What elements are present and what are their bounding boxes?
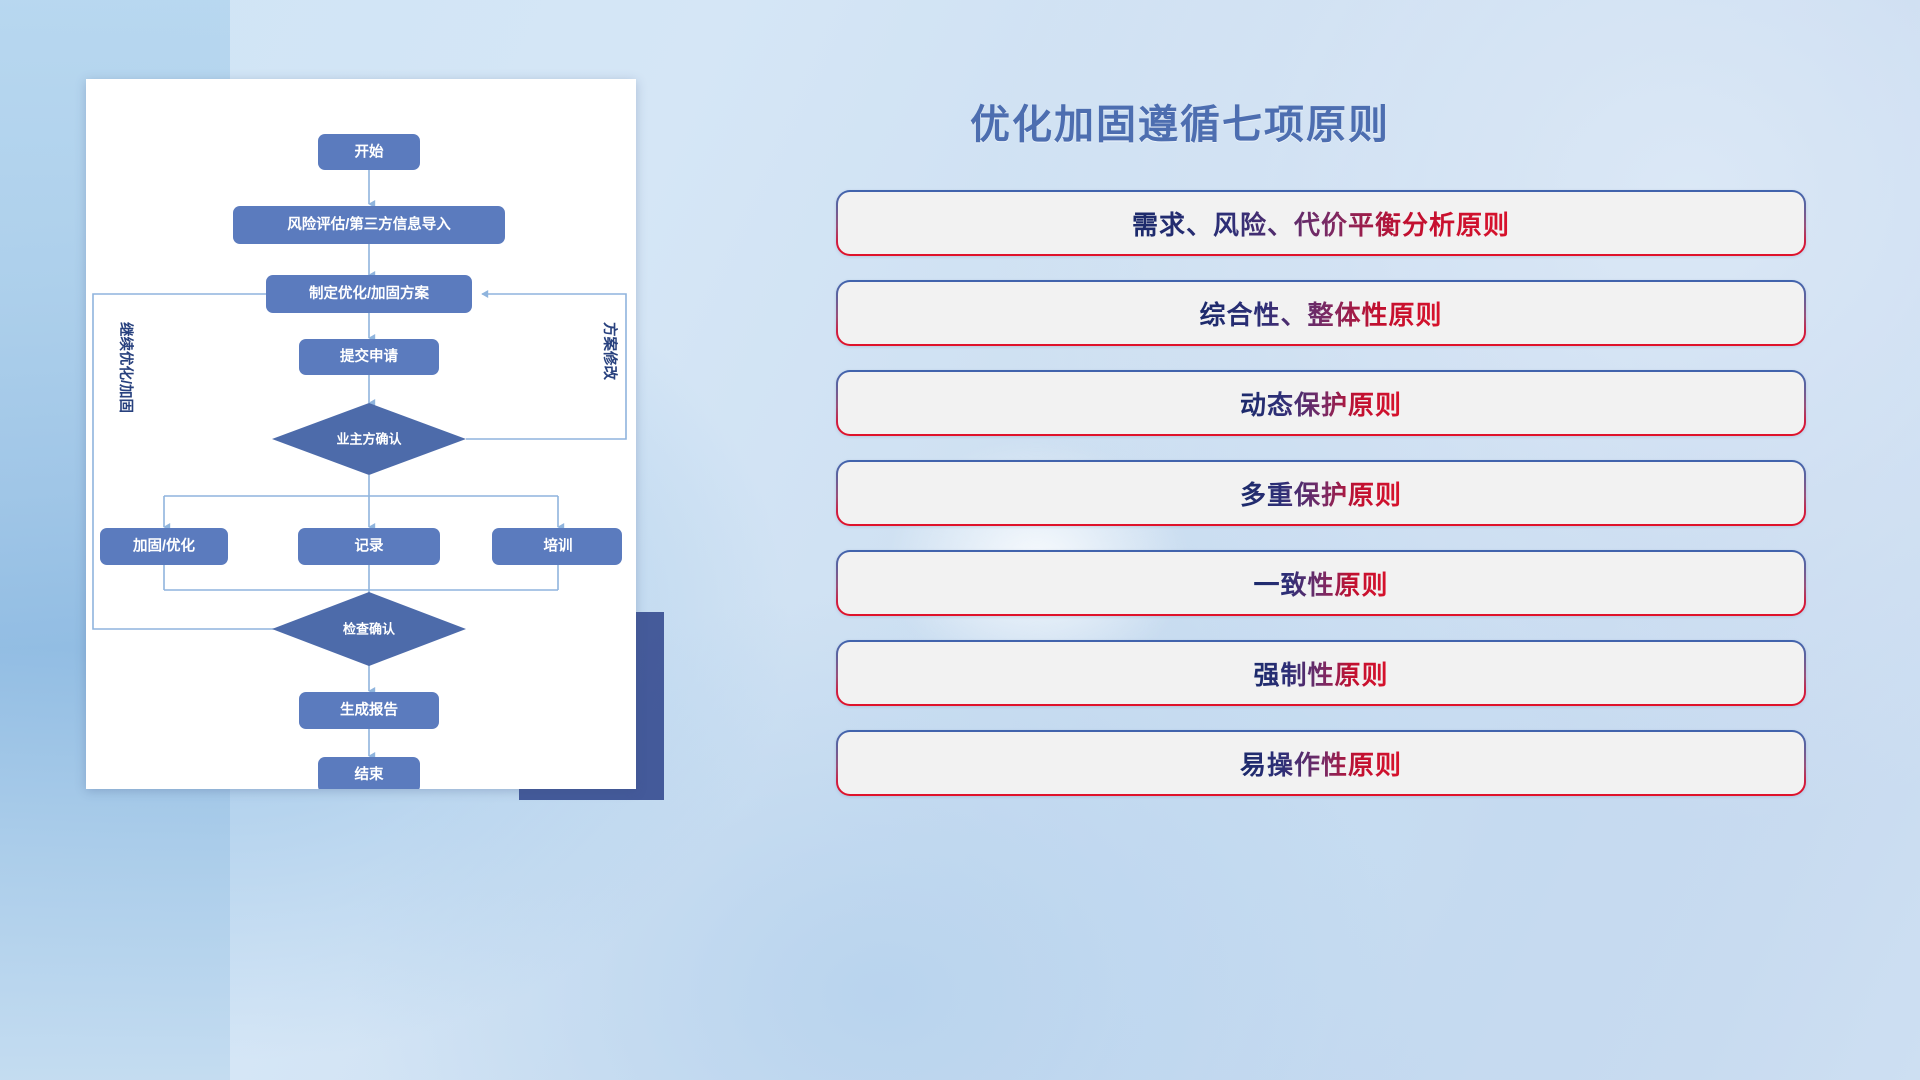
principle-label-6: 强制性原则 <box>1253 655 1388 692</box>
node-start[interactable]: 开始 <box>318 134 420 170</box>
node-reinforce-optimize[interactable]: 加固/优化 <box>100 528 228 565</box>
node-training[interactable]: 培训 <box>492 528 622 565</box>
principle-card-2[interactable]: 综合性、整体性原则 <box>836 280 1806 346</box>
principle-card-6[interactable]: 强制性原则 <box>836 640 1806 706</box>
principle-label-2: 综合性、整体性原则 <box>1199 295 1442 332</box>
principle-card-list: 需求、风险、代价平衡分析原则 综合性、整体性原则 动态保护原则 多重保护原则 一… <box>836 190 1806 820</box>
node-report-label: 生成报告 <box>340 701 398 719</box>
node-end[interactable]: 结束 <box>318 757 420 789</box>
node-risk-label: 风险评估/第三方信息导入 <box>287 215 451 233</box>
node-generate-report[interactable]: 生成报告 <box>299 692 439 729</box>
edge-label-continue-optimize: 继续优化/加固 <box>117 322 135 413</box>
node-training-label: 培训 <box>544 537 573 555</box>
principle-label-1: 需求、风险、代价平衡分析原则 <box>1132 205 1510 242</box>
principle-card-3[interactable]: 动态保护原则 <box>836 370 1806 436</box>
node-end-label: 结束 <box>355 765 384 783</box>
principle-label-5: 一致性原则 <box>1253 565 1388 602</box>
principle-card-7[interactable]: 易操作性原则 <box>836 730 1806 796</box>
node-submit-label: 提交申请 <box>340 347 398 365</box>
flowchart-nodes: 开始 风险评估/第三方信息导入 制定优化/加固方案 提交申请 业主方确认 加固/ <box>100 134 622 789</box>
node-owner-confirm[interactable]: 业主方确认 <box>272 403 466 475</box>
principle-card-1[interactable]: 需求、风险、代价平衡分析原则 <box>836 190 1806 256</box>
panel-title: 优化加固遵循七项原则 <box>830 92 1530 150</box>
node-reinforce-label: 加固/优化 <box>132 537 196 555</box>
edge-label-plan-revise: 方案修改 <box>601 322 619 380</box>
principle-card-4[interactable]: 多重保护原则 <box>836 460 1806 526</box>
flowchart-diagram: 开始 风险评估/第三方信息导入 制定优化/加固方案 提交申请 业主方确认 加固/ <box>86 79 636 789</box>
principles-panel: 优化加固遵循七项原则 需求、风险、代价平衡分析原则 综合性、整体性原则 动态保护… <box>830 0 1920 1080</box>
node-risk-assessment[interactable]: 风险评估/第三方信息导入 <box>233 206 505 244</box>
node-start-label: 开始 <box>355 143 384 161</box>
node-record-label: 记录 <box>355 538 384 555</box>
node-check-label: 检查确认 <box>343 622 396 637</box>
principle-label-4: 多重保护原则 <box>1240 475 1402 512</box>
node-record[interactable]: 记录 <box>298 528 440 565</box>
flowchart-card: 开始 风险评估/第三方信息导入 制定优化/加固方案 提交申请 业主方确认 加固/ <box>86 79 636 789</box>
principle-label-7: 易操作性原则 <box>1240 745 1402 782</box>
node-owner-label: 业主方确认 <box>336 432 402 447</box>
node-submit-application[interactable]: 提交申请 <box>299 339 439 375</box>
node-plan-label: 制定优化/加固方案 <box>309 284 430 302</box>
node-check-confirm[interactable]: 检查确认 <box>272 592 466 666</box>
principle-label-3: 动态保护原则 <box>1240 385 1402 422</box>
node-make-plan[interactable]: 制定优化/加固方案 <box>266 275 472 313</box>
principle-card-5[interactable]: 一致性原则 <box>836 550 1806 616</box>
